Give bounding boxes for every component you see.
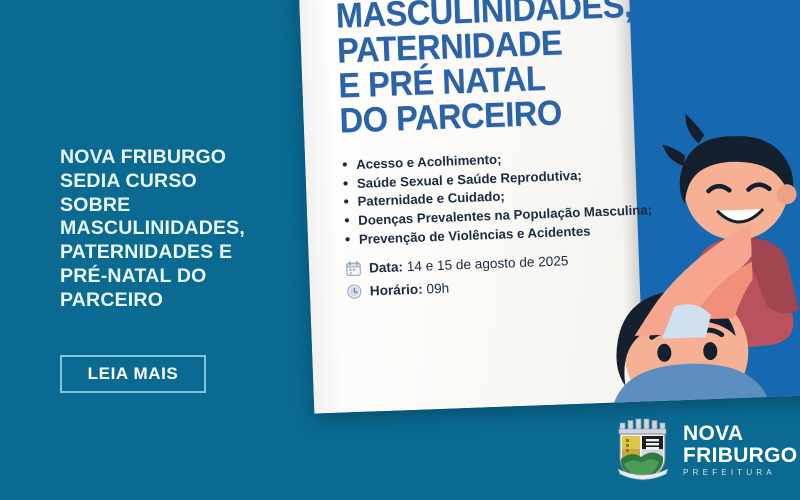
- promo-text-block: NOVA FRIBURGO SEDIA CURSO SOBRE MASCULIN…: [60, 146, 290, 312]
- promo-banner: NOVA FRIBURGO SEDIA CURSO SOBRE MASCULIN…: [0, 0, 800, 500]
- coat-of-arms-icon: [612, 417, 674, 483]
- event-date-label: Data:: [369, 259, 404, 275]
- event-date-value: 14 e 15 de agosto de 2025: [407, 253, 569, 274]
- event-time-label: Horário:: [370, 282, 423, 299]
- poster-event-details: Data: 14 e 15 de agosto de 2025 Horário:…: [345, 248, 696, 301]
- leia-mais-button[interactable]: LEIA MAIS: [60, 355, 206, 393]
- clock-icon: [346, 283, 364, 301]
- calendar-icon: [345, 260, 363, 278]
- event-time-value: 09h: [426, 281, 449, 297]
- leia-mais-label: LEIA MAIS: [88, 364, 179, 384]
- poster-title: MASCULINIDADES, PATERNIDADE E PRÉ NATAL …: [335, 0, 665, 139]
- promo-headline: NOVA FRIBURGO SEDIA CURSO SOBRE MASCULIN…: [60, 146, 290, 312]
- event-time-text: Horário: 09h: [370, 281, 450, 299]
- event-poster-card: MASCULINIDADES, PATERNIDADE E PRÉ NATAL …: [296, 0, 800, 414]
- logo-line-2: FRIBURGO: [683, 445, 797, 466]
- logo-subtitle: PREFEITURA: [683, 469, 797, 477]
- logo-line-1: NOVA: [683, 423, 797, 444]
- poster-content: MASCULINIDADES, PATERNIDADE E PRÉ NATAL …: [335, 0, 696, 307]
- nova-friburgo-logo: NOVA FRIBURGO PREFEITURA: [612, 414, 792, 486]
- logo-wordmark: NOVA FRIBURGO PREFEITURA: [683, 423, 797, 477]
- poster-topics-list: Acesso e Acolhimento; Saúde Sexual e Saú…: [341, 144, 694, 250]
- event-date-text: Data: 14 e 15 de agosto de 2025: [369, 253, 569, 275]
